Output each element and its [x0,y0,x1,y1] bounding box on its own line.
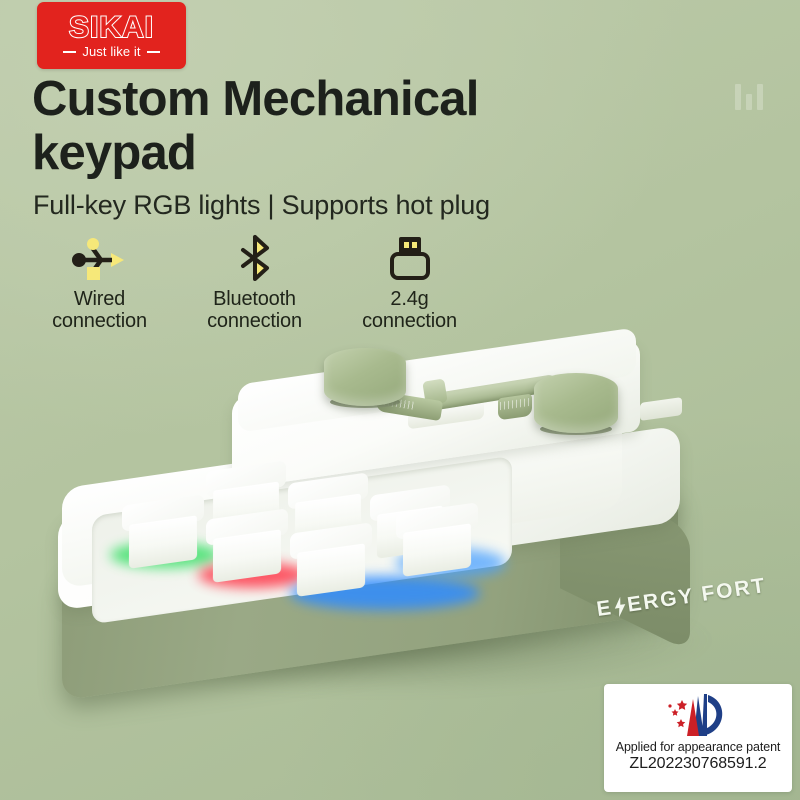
keycap[interactable] [206,514,288,584]
usb-dongle-icon [387,232,433,284]
rotary-knob-right[interactable] [534,373,618,433]
keycap[interactable] [122,500,204,570]
brand-logo-text: SIKAI [69,13,154,43]
patent-number: ZL202230768591.2 [629,755,766,773]
device-brand-prefix: E [595,596,614,622]
dash-left-icon [63,51,76,53]
patent-text-line1: Applied for appearance patent [616,740,781,754]
usb-icon [71,232,129,284]
console-side-slot [640,397,682,421]
rotary-knob-left[interactable] [324,348,406,406]
page-subtitle: Full-key RGB lights | Supports hot plug [33,190,490,221]
feature-label-bluetooth: Bluetooth connection [207,288,302,333]
feature-item-wired: Wired connection [22,232,177,333]
feature-list: Wired connection Bluetooth connection [22,232,502,333]
feature-item-24g: 2.4g connection [332,232,487,333]
dash-right-icon [147,51,160,53]
watermark-icon [733,80,767,110]
keycap[interactable] [290,528,372,598]
product-image: E ERGY FORT [0,330,800,730]
feature-label-24g: 2.4g connection [362,288,457,333]
brand-logo: SIKAI Just like it [37,2,186,69]
brand-tagline: Just like it [82,45,140,58]
bluetooth-icon [233,232,277,284]
page-title: Custom Mechanical keypad [32,73,552,181]
feature-label-wired: Wired connection [52,288,147,333]
brand-tagline-row: Just like it [63,45,159,58]
product-poster: SIKAI Just like it Custom Mechanical key… [0,0,800,800]
cnipa-logo-icon [660,690,736,738]
keycap[interactable] [396,508,478,576]
feature-item-bluetooth: Bluetooth connection [177,232,332,333]
patent-badge: Applied for appearance patent ZL20223076… [604,684,792,792]
